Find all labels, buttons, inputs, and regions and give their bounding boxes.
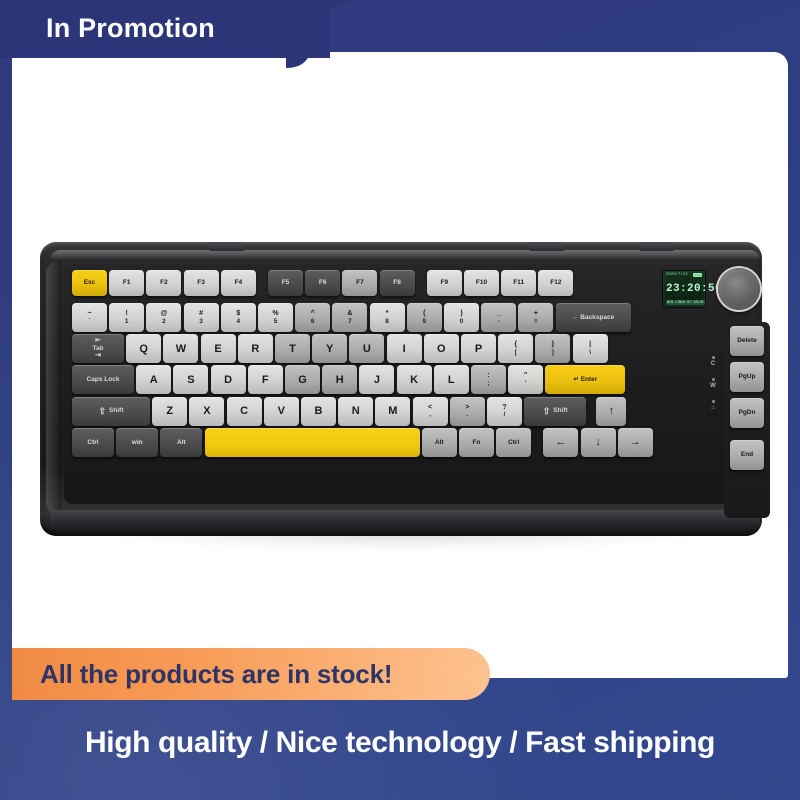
key-f12[interactable]: F12 [538,270,573,296]
key-label: F4 [235,279,243,286]
chassis-base-strip [50,510,760,536]
key-label: F11 [513,279,524,286]
key-shifted-label: ^ [311,310,315,318]
key-label: [ [515,349,517,356]
key-shifted-label: & [347,310,352,318]
key-7[interactable]: &7 [332,303,367,332]
key-label: F9 [441,279,449,286]
key-k[interactable]: K [397,365,432,394]
chassis-left-bevel [46,260,62,516]
key-label: ↵ Enter [573,376,597,383]
key-f9[interactable]: F9 [427,270,462,296]
lcd-icon-row: WIN LINUX BT VALUE [666,300,702,305]
key-s[interactable]: S [173,365,208,394]
key-d[interactable]: D [211,365,246,394]
key-8[interactable]: *8 [370,303,405,332]
caps-led-dot [712,356,715,359]
key-label: End [741,451,753,458]
key-pgdn[interactable]: PgDn [730,398,764,428]
key-right-shift[interactable]: ⇧Shift [524,397,586,426]
chassis-bump-left [210,242,244,251]
key-label: win [132,439,143,446]
key-label: V [278,405,285,417]
key-f10[interactable]: F10 [464,270,499,296]
key-ctrl[interactable]: Ctrl [496,428,531,457]
key-label: Alt [177,439,186,446]
key-label: 8 [385,318,389,325]
key-g[interactable]: G [285,365,320,394]
key-label: 9 [422,318,426,325]
in-stock-banner: All the products are in stock! [12,648,490,700]
key-label: E [214,343,221,355]
in-stock-text: All the products are in stock! [12,659,392,690]
key-label: F5 [282,279,290,286]
key-label: R [251,343,259,355]
key-shifted-label: ~ [87,310,91,318]
key-shifted-label: _ [497,310,501,318]
key-pgup[interactable]: PgUp [730,362,764,392]
key-label: Shift [553,407,567,414]
key-label: N [352,405,360,417]
key-6[interactable]: ^6 [295,303,330,332]
key-label: P [475,343,482,355]
key-end[interactable]: End [730,440,764,470]
key-label: ' [525,380,527,387]
key-f[interactable]: F [248,365,283,394]
key-label: Caps Lock [87,376,120,383]
key-label: , [429,411,431,418]
key-key[interactable]: <, [413,397,448,426]
key-f1[interactable]: F1 [109,270,144,296]
keyboard-key-plate: 2023/7/12 23:20:50 WIN LINUX BT VALUE [64,264,748,504]
key-label: F1 [123,279,131,286]
key-label: 1 [125,318,129,325]
key-esc[interactable]: Esc [72,270,107,296]
key-label: 2 [162,318,166,325]
indicator-led-column: C W ⌂ [706,356,720,422]
shift-arrow-icon: ⇧ [99,406,107,416]
lcd-time: 23:20:50 [666,283,702,295]
chassis-bump-mid [530,242,564,251]
chassis-top-highlight [50,250,760,260]
key-e[interactable]: E [201,334,236,363]
key-shifted-label: { [514,341,517,349]
key-label: Ctrl [87,439,98,446]
key-label: F12 [550,279,561,286]
key-key[interactable]: {[ [498,334,533,363]
key-label: PgUp [739,373,756,380]
key-label: U [363,343,371,355]
key-label: 0 [460,318,464,325]
tab-arrow-right-icon: ⇥ [95,352,101,360]
indicator-caps: C [706,356,720,367]
key-label: . [466,411,468,418]
key-label: A [150,374,158,386]
key-shifted-label: + [534,310,538,318]
key-j[interactable]: J [359,365,394,394]
key-label: W [176,343,186,355]
key-label: 3 [199,318,203,325]
lock-led-dot [712,400,715,403]
indicator-lock: ⌂ [706,400,720,411]
key-shifted-label: $ [236,310,240,318]
key-shifted-label: | [589,341,591,349]
key-alt[interactable]: Alt [422,428,457,457]
key-label: Z [166,405,173,417]
win-led-label: W [710,383,716,389]
key-label: - [498,318,500,325]
key-label: ← [555,436,566,448]
key-label: PgDn [739,409,756,416]
keyboard-chassis: 2023/7/12 23:20:50 WIN LINUX BT VALUE [40,242,762,536]
key-a[interactable]: A [136,365,171,394]
key-f11[interactable]: F11 [501,270,536,296]
lcd-date: 2023/7/12 [666,273,688,277]
key-caps-lock[interactable]: Caps Lock [72,365,134,394]
key-o[interactable]: O [424,334,459,363]
key-shifted-label: * [386,310,389,318]
key-3[interactable]: #3 [184,303,219,332]
key-label: ↑ [609,405,615,417]
key-label: S [187,374,194,386]
key-y[interactable]: Y [312,334,347,363]
key-label: 5 [274,318,278,325]
key-shifted-label: # [199,310,203,318]
key-m[interactable]: M [375,397,410,426]
key-label: = [534,318,538,325]
keyboard-product-photo: 2023/7/12 23:20:50 WIN LINUX BT VALUE [36,236,766,546]
key-shifted-label: " [524,372,527,380]
key-key[interactable]: ↑ [596,397,626,426]
key-label: F7 [356,279,364,286]
shift-arrow-icon: ⇧ [543,406,551,416]
key-label: F3 [197,279,205,286]
key-f6[interactable]: F6 [305,270,340,296]
key-shifted-label: ( [423,310,425,318]
key-t[interactable]: T [275,334,310,363]
key-tab[interactable]: ⇤Tab⇥ [72,334,124,363]
key-w[interactable]: W [163,334,198,363]
key-left-shift[interactable]: ⇧Shift [72,397,150,426]
key-x[interactable]: X [189,397,224,426]
key-label: 7 [348,318,352,325]
key-label: F2 [160,279,168,286]
key-label: I [403,343,406,355]
key-f7[interactable]: F7 [342,270,377,296]
key-key[interactable]: }] [535,334,570,363]
key-0[interactable]: )0 [444,303,479,332]
key-delete[interactable]: Delete [730,326,764,356]
key-alt[interactable]: Alt [160,428,202,457]
key-key[interactable]: :; [471,365,506,394]
key-9[interactable]: (9 [407,303,442,332]
key-label: ] [552,349,554,356]
key-key[interactable]: |\ [573,334,608,363]
key-b[interactable]: B [301,397,336,426]
key-label: M [388,405,397,417]
key-c[interactable]: C [227,397,262,426]
key-key[interactable]: ~` [72,303,107,332]
key-q[interactable]: Q [126,334,161,363]
key-p[interactable]: P [461,334,496,363]
caps-led-label: C [711,361,715,367]
key-n[interactable]: N [338,397,373,426]
lcd-icon-win: WIN [666,300,674,305]
key-label: K [410,374,418,386]
volume-knob[interactable] [718,268,760,310]
key-key[interactable]: _- [481,303,516,332]
key-label: Delete [737,337,757,344]
key-label: F6 [319,279,327,286]
key-label: ← Backspace [572,314,614,321]
key-label: F8 [393,279,401,286]
lcd-display[interactable]: 2023/7/12 23:20:50 WIN LINUX BT VALUE [662,270,706,308]
key-5[interactable]: %5 [258,303,293,332]
key-label: Tab [92,345,103,352]
key-label: Y [326,343,333,355]
key-u[interactable]: U [349,334,384,363]
knob-face [722,272,756,306]
key-shifted-label: > [465,404,469,412]
indicator-win: W [706,378,720,389]
key-label: ` [88,318,90,325]
key-shifted-label: @ [160,310,167,318]
key-label: Ctrl [508,439,519,446]
key-label: \ [589,349,591,356]
key-key[interactable]: >. [450,397,485,426]
key-label: Alt [435,439,444,446]
tab-arrow-left-icon: ⇤ [95,337,101,345]
key-key[interactable]: ?/ [487,397,522,426]
key-v[interactable]: V [264,397,299,426]
key-1[interactable]: !1 [109,303,144,332]
key-label: C [240,405,248,417]
key-2[interactable]: @2 [146,303,181,332]
key-label: O [437,343,446,355]
battery-icon [693,273,702,277]
key-shifted-label: } [552,341,555,349]
key-label: ↓ [595,436,601,448]
key-label: → [630,436,641,448]
key-4[interactable]: $4 [221,303,256,332]
key-r[interactable]: R [238,334,273,363]
banner-curve-shape [286,0,350,68]
key-label: 4 [236,318,240,325]
promo-tagline: High quality / Nice technology / Fast sh… [0,726,800,760]
key-key[interactable]: += [518,303,553,332]
key-label: H [336,374,344,386]
key-ctrl[interactable]: Ctrl [72,428,114,457]
key-f2[interactable]: F2 [146,270,181,296]
key-f3[interactable]: F3 [184,270,219,296]
key-label: G [298,374,307,386]
key-label: L [448,374,455,386]
key-label: 6 [311,318,315,325]
key-label: F [262,374,269,386]
key-shifted-label: % [272,310,278,318]
key-shifted-label: < [428,404,432,412]
key-shifted-label: ) [460,310,462,318]
key-label: T [289,343,296,355]
key-label: ; [487,380,489,387]
chassis-bump-right [640,242,674,251]
key-z[interactable]: Z [152,397,187,426]
key-l[interactable]: L [434,365,469,394]
key-key[interactable]: ← [543,428,578,457]
win-led-dot [712,378,715,381]
key-f8[interactable]: F8 [380,270,415,296]
key-key[interactable]: → [618,428,653,457]
banner-title: In Promotion [46,13,215,44]
key-label: J [374,374,380,386]
key-label: X [203,405,210,417]
key-key[interactable]: ↓ [581,428,616,457]
key-space[interactable] [205,428,420,457]
key-key[interactable]: "' [508,365,543,394]
key-f4[interactable]: F4 [221,270,256,296]
key-enter[interactable]: ↵ Enter [545,365,625,394]
key-label: Esc [84,279,96,286]
key-backspace[interactable]: ← Backspace [556,303,631,332]
lock-led-label: ⌂ [711,405,715,411]
key-label: Q [139,343,148,355]
key-label: Shift [109,407,123,414]
lcd-icon-value: VALUE [692,300,704,305]
key-win[interactable]: win [116,428,158,457]
key-fn[interactable]: Fn [459,428,494,457]
key-i[interactable]: I [387,334,422,363]
key-shifted-label: : [487,372,489,380]
lcd-status-bar: 2023/7/12 [666,273,702,277]
key-label: Fn [473,439,481,446]
key-shifted-label: ? [502,404,506,412]
key-h[interactable]: H [322,365,357,394]
key-label: D [224,374,232,386]
key-f5[interactable]: F5 [268,270,303,296]
key-label: F10 [476,279,487,286]
key-label: / [504,411,506,418]
key-label: B [315,405,323,417]
key-shifted-label: ! [126,310,128,318]
lcd-icon-linux: LINUX [674,300,686,305]
